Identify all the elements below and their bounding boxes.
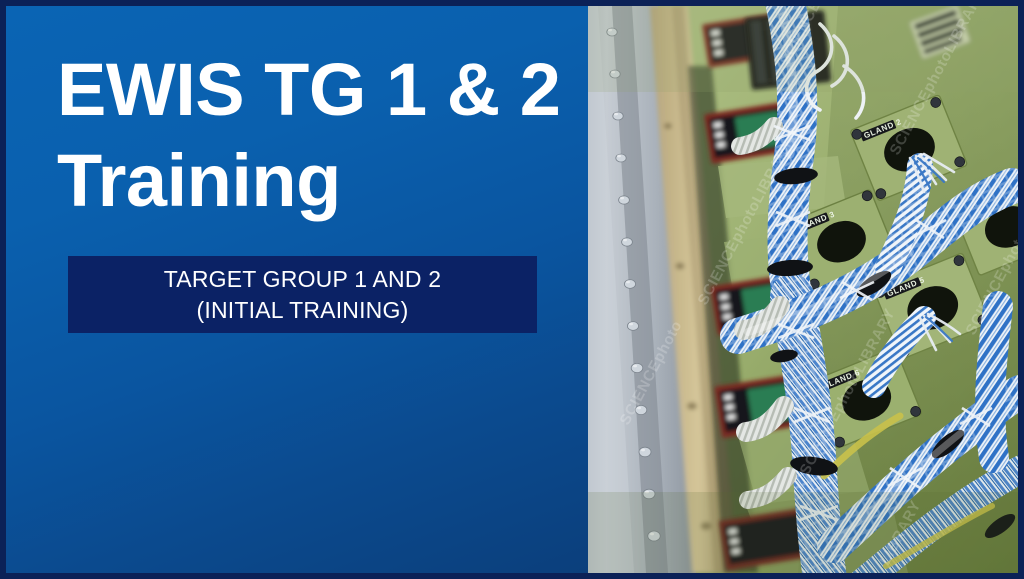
subtitle-line-2: (INITIAL TRAINING) xyxy=(197,295,409,325)
presentation-slide: EWIS TG 1 & 2 Training TARGET GROUP 1 AN… xyxy=(0,0,1024,579)
title-panel: EWIS TG 1 & 2 Training TARGET GROUP 1 AN… xyxy=(6,6,588,573)
dof-bottom xyxy=(588,492,1018,573)
subtitle-line-1: TARGET GROUP 1 AND 2 xyxy=(164,264,442,294)
page-title: EWIS TG 1 & 2 Training xyxy=(57,44,577,226)
wiring-harness-photo: GLAND 2 GLAND 3 xyxy=(588,6,1018,573)
subtitle-banner: TARGET GROUP 1 AND 2 (INITIAL TRAINING) xyxy=(68,256,537,333)
wiring-harness-illustration: GLAND 2 GLAND 3 xyxy=(588,6,1018,573)
title-block: EWIS TG 1 & 2 Training xyxy=(57,44,577,226)
